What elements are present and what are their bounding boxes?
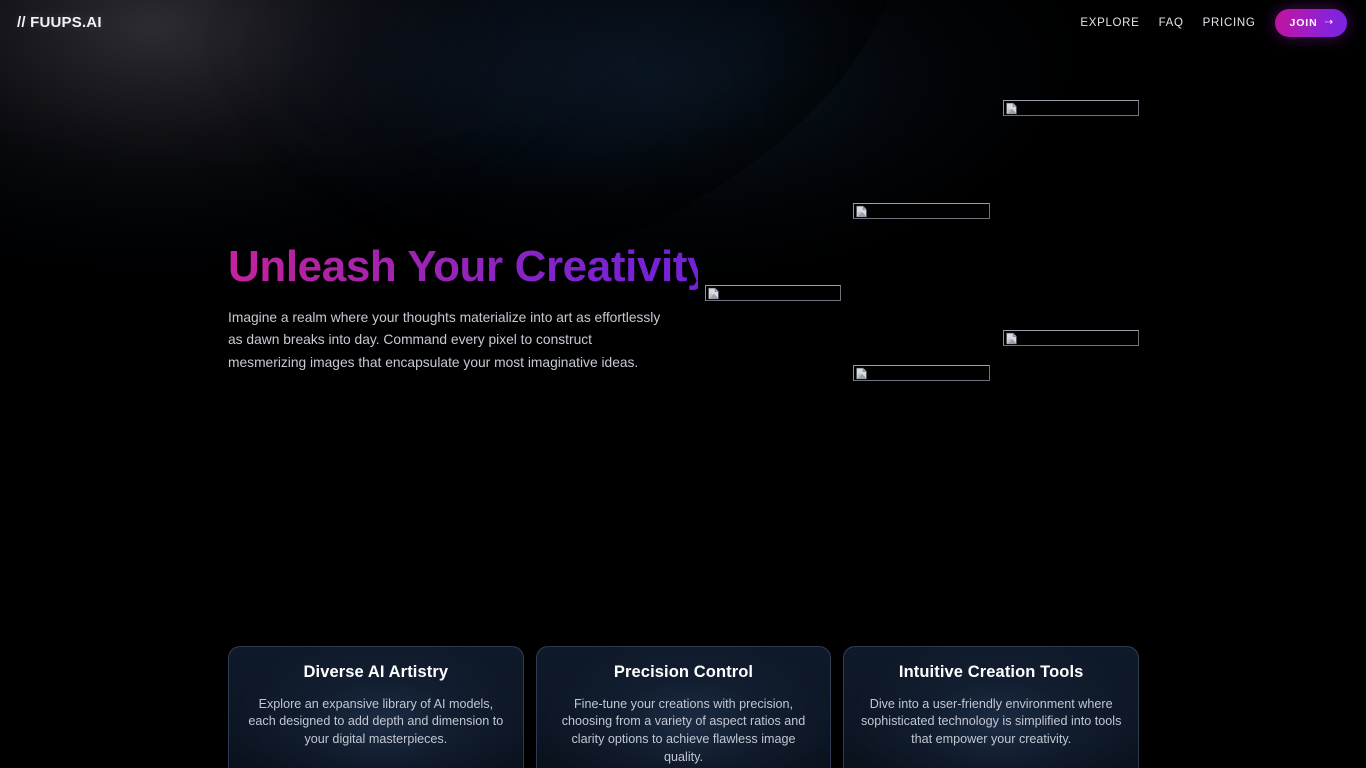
broken-image-frame — [853, 203, 990, 219]
broken-image-2 — [853, 203, 990, 219]
feature-card-title: Precision Control — [553, 663, 815, 683]
hero-section: Unleash Your Creativity Imagine a realm … — [228, 243, 698, 374]
feature-card-description: Explore an expansive library of AI model… — [245, 696, 507, 749]
page-title: Unleash Your Creativity — [228, 243, 698, 291]
broken-image-icon — [1005, 102, 1018, 115]
nav-link-explore[interactable]: EXPLORE — [1080, 17, 1139, 29]
nav-link-faq[interactable]: FAQ — [1159, 17, 1184, 29]
brand-logo[interactable]: // FUUPS.AI — [17, 14, 102, 31]
feature-card-title: Intuitive Creation Tools — [860, 663, 1122, 683]
broken-image-frame — [705, 285, 841, 301]
arrow-right-icon: ⇢ — [1325, 18, 1332, 28]
nav-link-pricing[interactable]: PRICING — [1203, 17, 1256, 29]
broken-image-4 — [1003, 330, 1139, 346]
feature-card-title: Diverse AI Artistry — [245, 663, 507, 683]
feature-card[interactable]: Intuitive Creation ToolsDive into a user… — [843, 646, 1139, 768]
broken-image-icon — [855, 205, 868, 218]
join-button-label: JOIN — [1290, 17, 1318, 29]
broken-image-frame — [853, 365, 990, 381]
feature-card-description: Fine-tune your creations with precision,… — [553, 696, 815, 766]
feature-card-description: Dive into a user-friendly environment wh… — [860, 696, 1122, 749]
broken-image-frame — [1003, 330, 1139, 346]
feature-cards-section: Diverse AI ArtistryExplore an expansive … — [228, 646, 1139, 768]
broken-image-frame — [1003, 100, 1139, 116]
feature-card[interactable]: Diverse AI ArtistryExplore an expansive … — [228, 646, 524, 768]
hero-subtitle: Imagine a realm where your thoughts mate… — [228, 307, 668, 375]
broken-image-3 — [705, 285, 841, 301]
top-navigation-bar: // FUUPS.AI EXPLORE FAQ PRICING JOIN ⇢ — [0, 0, 1366, 45]
broken-image-1 — [1003, 100, 1139, 116]
broken-image-icon — [855, 367, 868, 380]
feature-card[interactable]: Precision ControlFine-tune your creation… — [536, 646, 832, 768]
broken-image-5 — [853, 365, 990, 381]
broken-image-icon — [1005, 332, 1018, 345]
nav-links-group: EXPLORE FAQ PRICING JOIN ⇢ — [1080, 9, 1347, 37]
join-button[interactable]: JOIN ⇢ — [1275, 9, 1348, 37]
